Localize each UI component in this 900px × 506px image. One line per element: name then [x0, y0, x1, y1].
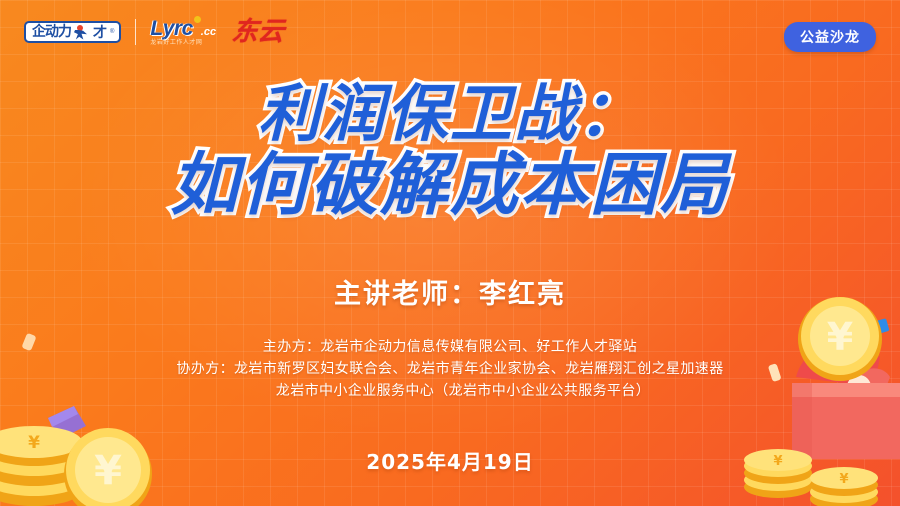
- logo-qidongli-rencai[interactable]: 企动力 才 ®: [24, 21, 121, 43]
- logo-lyrc-wordmark: Lyrc.cc: [150, 18, 216, 39]
- title-line-1: 利润保卫战：: [0, 82, 900, 145]
- poster-canvas: ¥ ¥ ¥ ¥ ¥: [0, 0, 900, 506]
- logo-cai-text: 才: [93, 25, 107, 39]
- organizer-coorganizer-line-2: 龙岩市中小企业服务中心（龙岩市中小企业公共服务平台）: [0, 380, 900, 402]
- logo-qidongli-text: 企动力: [32, 25, 71, 39]
- registered-trademark-icon: ®: [110, 29, 114, 35]
- logo-lyrc-main-text: Lyrc: [150, 17, 192, 40]
- speaker-label: 主讲老师：李红亮: [0, 272, 900, 311]
- logo-lyrc-subtitle: 龙岩好工作人才网: [150, 40, 202, 46]
- organizer-block: 主办方：龙岩市企动力信息传媒有限公司、好工作人才驿站 协办方：龙岩市新罗区妇女联…: [0, 336, 900, 402]
- logo-group: 企动力 才 ® Lyrc.cc 龙岩好工作人才网 东云: [24, 18, 284, 46]
- status-badge-public-welfare-salon: 公益沙龙: [784, 22, 876, 52]
- page-title: 利润保卫战： 如何破解成本困局: [0, 82, 900, 221]
- poster-header: 企动力 才 ® Lyrc.cc 龙岩好工作人才网 东云 公益沙龙: [0, 0, 900, 70]
- logo-lyrc-dot-icon: [194, 16, 201, 23]
- title-line-2: 如何破解成本困局: [0, 151, 900, 220]
- organizer-coorganizer-line: 协办方：龙岩市新罗区妇女联合会、龙岩市青年企业家协会、龙岩雁翔汇创之星加速器: [0, 358, 900, 380]
- background-vignette: [0, 0, 900, 506]
- logo-divider: [135, 19, 136, 45]
- background-grid: [0, 0, 900, 506]
- logo-dongyun[interactable]: 东云: [231, 19, 286, 45]
- logo-lyrc[interactable]: Lyrc.cc 龙岩好工作人才网: [150, 18, 216, 46]
- running-person-icon: [74, 24, 90, 41]
- organizer-host-line: 主办方：龙岩市企动力信息传媒有限公司、好工作人才驿站: [0, 336, 900, 358]
- logo-lyrc-tld-text: .cc: [201, 26, 216, 38]
- event-date: 2025年4月19日: [0, 446, 900, 475]
